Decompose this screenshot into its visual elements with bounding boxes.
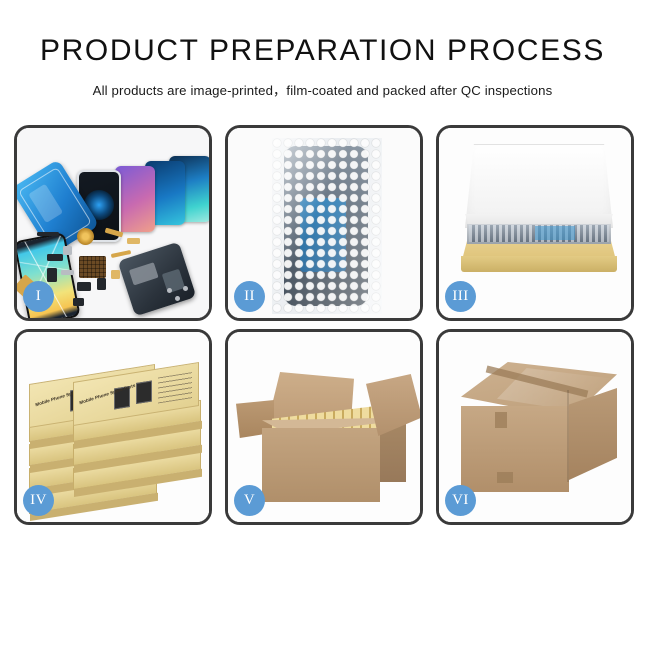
process-step-6: VI: [436, 329, 634, 525]
step-badge-6: VI: [445, 485, 476, 516]
vibration-motor-icon: [77, 228, 94, 245]
wrap-gloss-layer: [272, 138, 382, 314]
kraft-box-front-icon: [461, 256, 617, 272]
step-badge-4: IV: [23, 485, 54, 516]
process-step-grid: I II: [14, 125, 631, 584]
carton-front-icon: [262, 428, 380, 502]
carton-edge-seam: [567, 390, 569, 482]
phone-front-purple-icon: [115, 166, 155, 232]
header: PRODUCT PREPARATION PROCESS All products…: [0, 0, 645, 99]
page-title: PRODUCT PREPARATION PROCESS: [0, 36, 645, 66]
process-step-4: Mobile Phone Spare Parts Mobile Phone Sp…: [14, 329, 212, 525]
process-step-2: II: [225, 125, 423, 321]
carton-tape-front-upper-icon: [495, 412, 507, 428]
sealed-carton-front-icon: [461, 406, 569, 492]
step-badge-3: III: [445, 281, 476, 312]
carton-tape-front-lower-icon: [497, 472, 513, 483]
page-subtitle: All products are image-printed，film-coat…: [0, 80, 645, 99]
process-step-3: III: [436, 125, 634, 321]
mesh-grille-part-icon: [79, 256, 106, 278]
process-step-1: I: [14, 125, 212, 321]
packed-item-blue-accent: [535, 226, 575, 240]
step-badge-1: I: [23, 281, 54, 312]
step-badge-2: II: [234, 281, 265, 312]
product-preparation-infographic: PRODUCT PREPARATION PROCESS All products…: [0, 0, 645, 645]
process-step-5: V: [225, 329, 423, 525]
step-badge-5: V: [234, 485, 265, 516]
